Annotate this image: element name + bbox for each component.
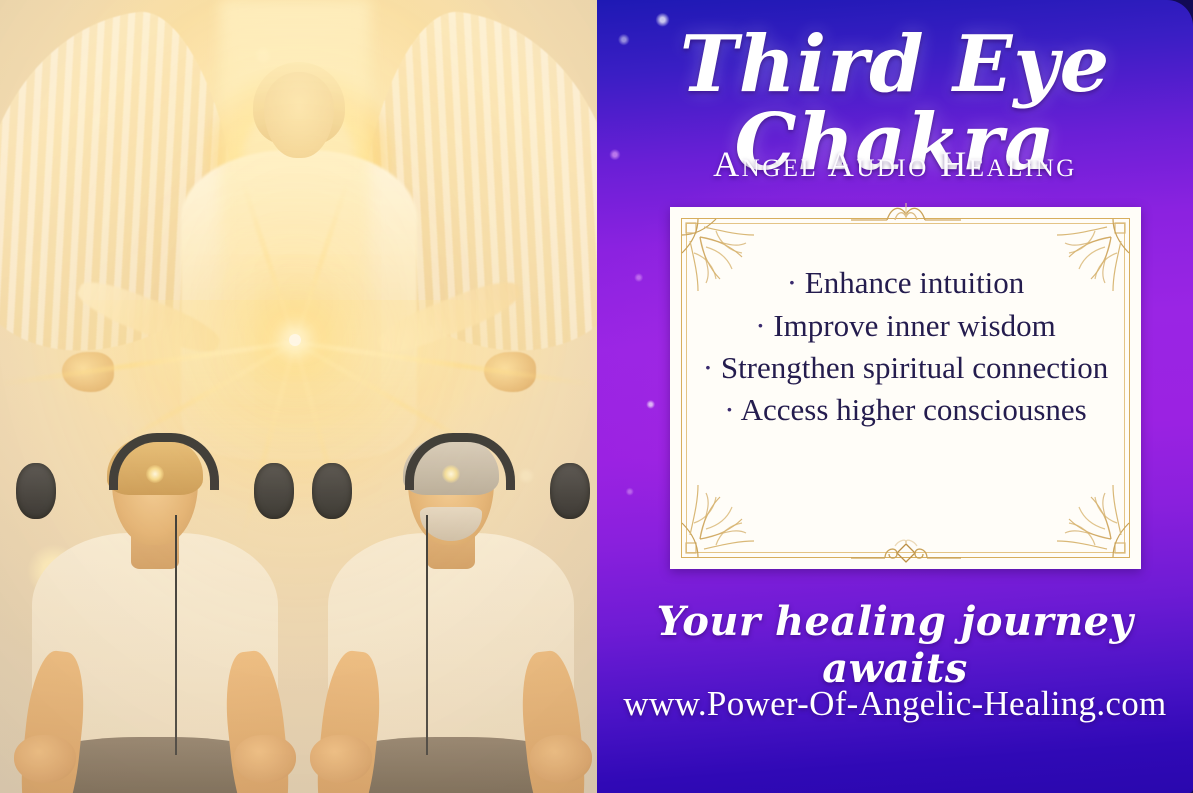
benefit-item: · Enhance intuition <box>700 263 1111 302</box>
info-panel: Third Eye Chakra Angel Audio Healing <box>597 0 1193 793</box>
website-url[interactable]: www.Power-Of-Angelic-Healing.com <box>597 684 1193 724</box>
benefit-label: Improve inner wisdom <box>773 308 1055 343</box>
photo-tone-overlay <box>0 0 598 793</box>
tagline: Your healing journey awaits <box>597 598 1193 692</box>
angel-photo <box>0 0 598 793</box>
bullet-marker-icon: · <box>724 392 734 427</box>
bullet-marker-icon: · <box>703 350 713 385</box>
benefits-list: · Enhance intuition · Improve inner wisd… <box>700 263 1111 434</box>
benefits-card: · Enhance intuition · Improve inner wisd… <box>670 207 1141 569</box>
benefit-item: · Access higher consciousnes <box>700 390 1111 429</box>
benefit-label: Strengthen spiritual connection <box>721 350 1108 385</box>
bullet-marker-icon: · <box>787 265 797 300</box>
benefit-item: · Improve inner wisdom <box>700 306 1111 345</box>
bullet-marker-icon: · <box>755 308 765 343</box>
benefit-item: · Strengthen spiritual connection <box>700 350 1111 387</box>
benefit-label: Access higher consciousnes <box>741 392 1087 427</box>
page-subtitle: Angel Audio Healing <box>597 143 1193 185</box>
poster-canvas: Third Eye Chakra Angel Audio Healing <box>0 0 1193 793</box>
benefit-label: Enhance intuition <box>805 265 1025 300</box>
